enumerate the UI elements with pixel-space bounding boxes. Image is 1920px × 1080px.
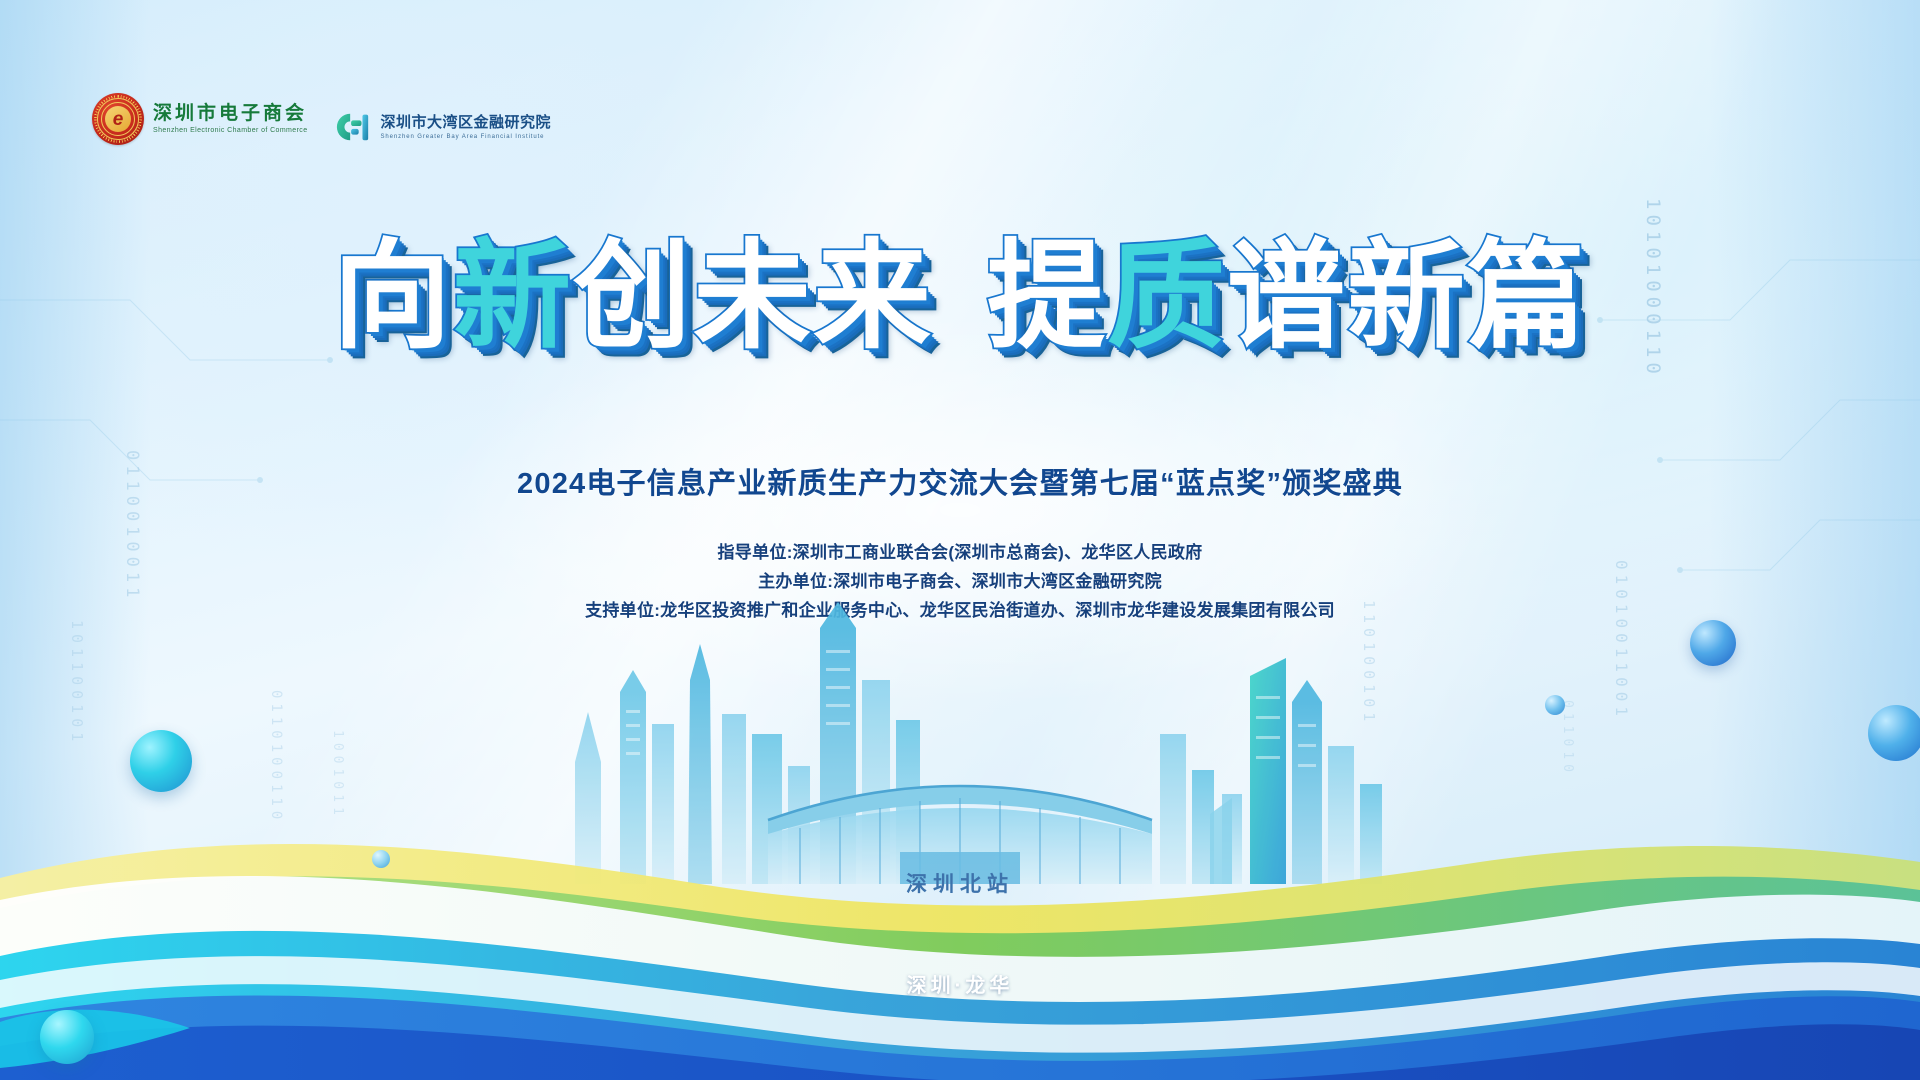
sphere-decor-2 — [1545, 695, 1565, 715]
event-subtitle: 2024电子信息产业新质生产力交流大会暨第七届“蓝点奖”颁奖盛典 — [0, 460, 1920, 502]
title-char-3: 未 — [693, 236, 813, 356]
title-char-8: 谱 — [1227, 236, 1347, 356]
title-char-10: 篇 — [1467, 236, 1587, 356]
title-char-7: 质 — [1107, 236, 1227, 356]
title-char-4: 来 — [813, 236, 933, 356]
logo-shenzhen-electronic-chamber: e 深圳市电子商会 Shenzhen Electronic Chamber of… — [92, 93, 308, 145]
title-char-6: 提 — [987, 236, 1107, 356]
gbi-mark-icon — [334, 109, 372, 145]
banner-canvas: 10101000110 01010011001 110100101 011001… — [0, 0, 1920, 1080]
title-char-1: 新 — [453, 236, 573, 356]
seal-letter: e — [105, 106, 131, 132]
sphere-decor-1 — [1690, 620, 1736, 666]
logo-name-en: Shenzhen Greater Bay Area Financial Inst… — [381, 134, 552, 141]
logo-row: e 深圳市电子商会 Shenzhen Electronic Chamber of… — [92, 93, 551, 145]
sphere-decor-3 — [1868, 705, 1920, 761]
city-footer-label: 深圳·龙华 — [0, 969, 1920, 998]
logo-name-cn: 深圳市大湾区金融研究院 — [381, 114, 552, 132]
title-char-2: 创 — [573, 236, 693, 356]
wave-graphics — [0, 750, 1920, 1080]
chamber-seal-icon: e — [92, 93, 144, 145]
logo-gba-financial-institute: 深圳市大湾区金融研究院 Shenzhen Greater Bay Area Fi… — [334, 109, 552, 145]
logo-name-cn: 深圳市电子商会 — [153, 103, 308, 125]
title-char-9: 新 — [1347, 236, 1467, 356]
logo-name-en: Shenzhen Electronic Chamber of Commerce — [153, 127, 308, 135]
sphere-decor-5 — [40, 1010, 94, 1064]
main-title-block: 向新创未来提质谱新篇 — [0, 236, 1920, 356]
organizer-line-guidance: 指导单位:深圳市工商业联合会(深圳市总商会)、龙华区人民政府 — [0, 538, 1920, 567]
sphere-decor-0 — [130, 730, 192, 792]
title-char-0: 向 — [333, 236, 453, 356]
sphere-decor-4 — [372, 850, 390, 868]
main-title: 向新创未来提质谱新篇 — [333, 236, 1587, 356]
